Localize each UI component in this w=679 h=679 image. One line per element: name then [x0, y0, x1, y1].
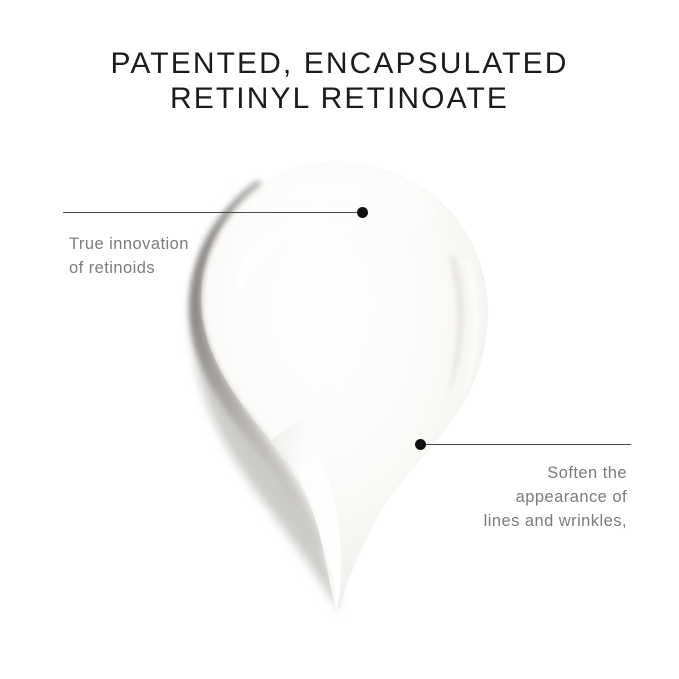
callout-left-leader-line — [63, 212, 362, 213]
callout-right-leader-line — [420, 444, 631, 445]
callout-right-line-2: appearance of — [484, 485, 627, 509]
product-infographic: PATENTED, ENCAPSULATED RETINYL RETINOATE — [0, 0, 679, 679]
callout-right-caption: Soften the appearance of lines and wrink… — [484, 461, 627, 533]
callout-right-line-1: Soften the — [484, 461, 627, 485]
callout-left-line-1: True innovation — [69, 232, 189, 256]
title-line-2: RETINYL RETINOATE — [0, 81, 679, 116]
callout-right-marker-dot — [415, 439, 426, 450]
callout-left-caption: True innovation of retinoids — [69, 232, 189, 280]
callout-left-marker-dot — [357, 207, 368, 218]
callout-left-line-2: of retinoids — [69, 256, 189, 280]
callout-right-line-3: lines and wrinkles, — [484, 509, 627, 533]
page-title: PATENTED, ENCAPSULATED RETINYL RETINOATE — [0, 46, 679, 116]
title-line-1: PATENTED, ENCAPSULATED — [0, 46, 679, 81]
